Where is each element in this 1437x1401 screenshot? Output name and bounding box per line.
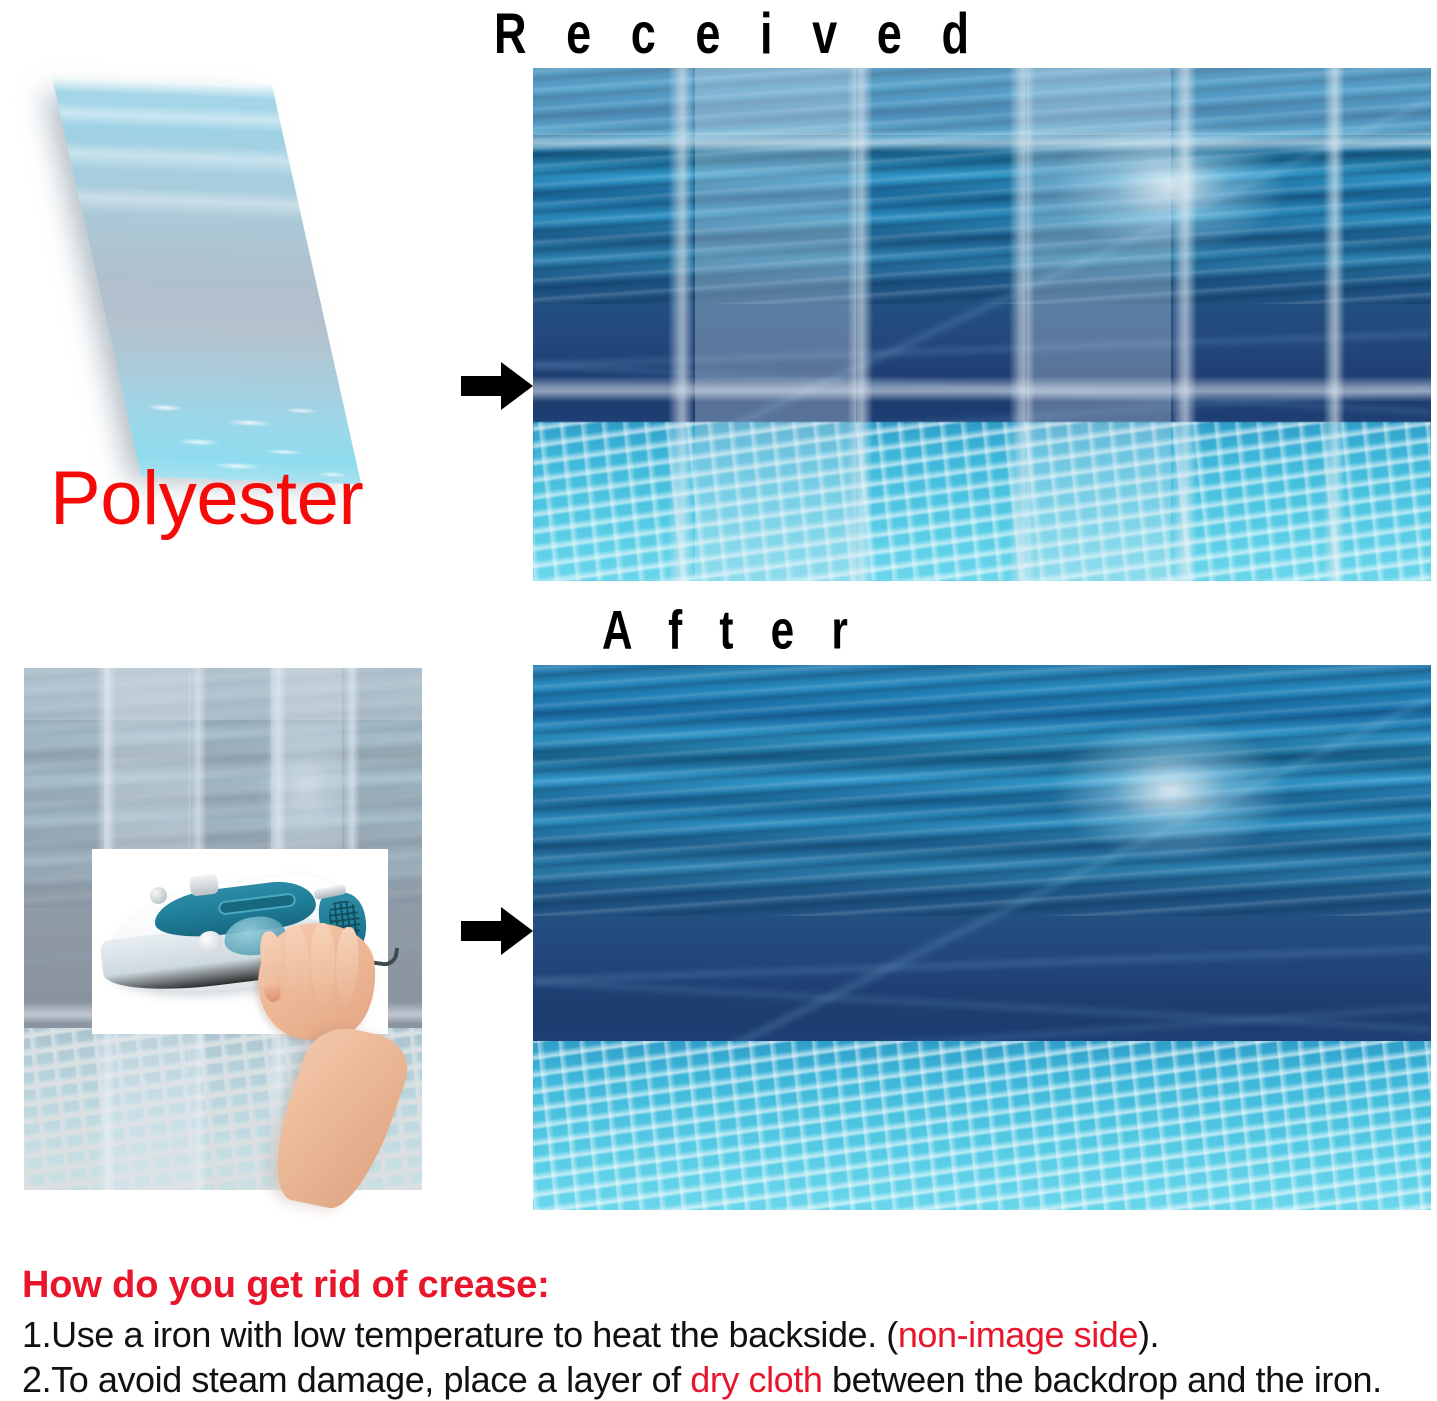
instruction-step-1: 1.Use a iron with low temperature to hea… [22, 1313, 1422, 1356]
steam-iron-illustration [92, 849, 388, 1034]
after-backdrop-photo [533, 665, 1431, 1210]
received-backdrop-photo [533, 68, 1431, 581]
swatch-top-edge [52, 77, 275, 99]
right-arrow-icon [461, 905, 533, 957]
instruction-2-post: between the backdrop and the iron. [822, 1359, 1381, 1400]
instruction-1-highlight: non-image side [898, 1314, 1138, 1355]
instruction-2-pre: 2.To avoid steam damage, place a layer o… [22, 1359, 690, 1400]
iron-photo-card [92, 849, 388, 1034]
instructions-block: How do you get rid of crease: 1.Use a ir… [22, 1265, 1422, 1401]
instruction-step-2: 2.To avoid steam damage, place a layer o… [22, 1358, 1422, 1401]
sandy-seabed [533, 422, 1431, 581]
folded-fabric-swatch [52, 77, 361, 484]
polyester-caption: Polyester [50, 455, 363, 542]
sandy-seabed [533, 1041, 1431, 1210]
instructions-heading: How do you get rid of crease: [22, 1265, 1422, 1306]
right-arrow-icon [461, 360, 533, 412]
instruction-1-post: ). [1138, 1314, 1159, 1355]
product-infographic: R e c e i v e d Polyester [0, 0, 1437, 1401]
iron-steam-knob [189, 873, 219, 896]
received-section-label: R e c e i v e d [494, 1, 983, 67]
instruction-2-highlight: dry cloth [690, 1359, 822, 1400]
instruction-1-pre: 1.Use a iron with low temperature to hea… [22, 1314, 898, 1355]
polyester-swatch-panel [0, 72, 430, 497]
after-section-label: A f t e r [602, 598, 860, 662]
